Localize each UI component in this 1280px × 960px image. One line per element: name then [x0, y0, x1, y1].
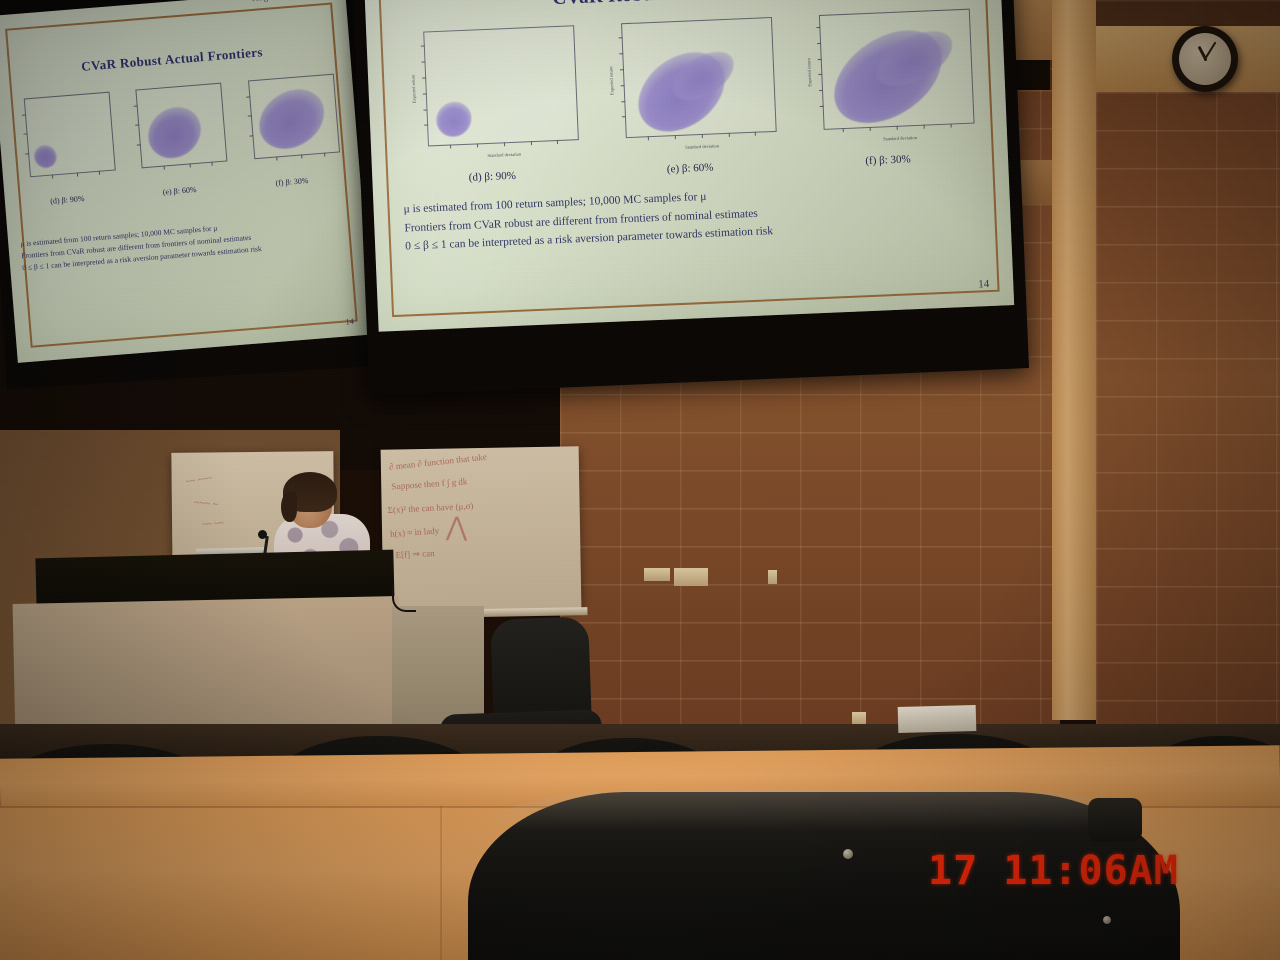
podium-front-panel — [13, 596, 402, 744]
chart-d-ylabel: Expected return — [411, 75, 417, 104]
whiteboard-note-5: ≤ E[f] ⇒ can — [388, 548, 435, 561]
chart-panel-e: Standard deviation Expected return (e) β… — [592, 7, 783, 175]
desk-panel-seam — [440, 806, 442, 960]
slide-page-number-main: 14 — [978, 278, 989, 290]
floor-outlet — [852, 712, 866, 724]
chart-d-xlabel: Standard deviation — [487, 151, 521, 157]
slide-header-date-left: August 18-20, 2008 — [252, 0, 328, 3]
clock-center-pin — [1204, 58, 1207, 61]
podium-cable — [392, 584, 416, 612]
pilaster-notch-upper — [1012, 0, 1054, 60]
plot-area-d: Standard deviation Expected return — [424, 25, 580, 146]
camera-timestamp: 17 11:06AM — [928, 848, 1179, 894]
chair-rivet — [1103, 916, 1111, 924]
chart-e-xlabel: Standard deviation — [685, 143, 719, 149]
projected-slide-main: CVaR Robust Actual Frontiers Standard de… — [364, 0, 1014, 332]
presenter-hair-side — [281, 492, 297, 522]
data-cloud — [429, 95, 478, 144]
foreground-chair-rim — [486, 790, 1162, 830]
chart-panel-d-left: (d) β: 90% — [6, 85, 119, 203]
wall-outlet — [674, 568, 708, 586]
projected-slide-left: August 18-20, 2008 CVaR Robust Actual Fr… — [0, 0, 373, 363]
plot-area-f-left — [248, 73, 340, 159]
chart-panel-f-left: (f) β: 30% — [231, 66, 344, 184]
whiteboard-note-2: Suppose then f ∫ g dk — [391, 476, 468, 491]
white-equipment-box — [898, 705, 977, 733]
clock-face — [1179, 33, 1231, 85]
data-cloud — [248, 77, 335, 161]
chair-rivet — [843, 849, 853, 859]
pilaster-column — [1052, 0, 1096, 720]
wall-clock — [1172, 26, 1238, 92]
chart-e-ylabel: Expected return — [609, 67, 615, 96]
podium-side-panel — [392, 606, 484, 724]
whiteboard-diagram-icon: ⋀ — [446, 512, 468, 542]
chart-panel-f: Standard deviation Expected return (f) β… — [789, 0, 980, 166]
lecture-hall-photo: August 18-20, 2008 CVaR Robust Actual Fr… — [0, 0, 1280, 960]
wall-plate-right — [768, 570, 777, 584]
plot-area-e-left — [136, 82, 228, 168]
chart-row-main: Standard deviation Expected return (d) β… — [394, 0, 980, 183]
brick-wall-right — [1096, 92, 1280, 732]
slide-page-number-left: 14 — [345, 317, 354, 327]
chart-panel-d: Standard deviation Expected return (d) β… — [394, 15, 585, 183]
data-cloud — [29, 141, 61, 173]
plot-area-d-left — [23, 91, 115, 177]
clock-minute-hand — [1204, 42, 1216, 60]
chart-f-xlabel: Standard deviation — [883, 135, 917, 141]
plot-area-e: Standard deviation Expected return — [621, 17, 777, 138]
microphone-head — [258, 530, 267, 539]
chart-panel-e-left: (e) β: 60% — [119, 76, 232, 194]
data-cloud — [138, 97, 211, 169]
wall-plate-left — [644, 568, 670, 581]
plot-area-f: Standard deviation Expected return — [819, 8, 975, 129]
foreground-chair-arm — [1088, 798, 1142, 842]
chart-f-ylabel: Expected return — [807, 58, 813, 87]
whiteboard-note-1: ∂ mean ∂ function that take — [389, 452, 488, 472]
whiteboard-note-4: h(x) ≈ in lady — [390, 525, 440, 538]
